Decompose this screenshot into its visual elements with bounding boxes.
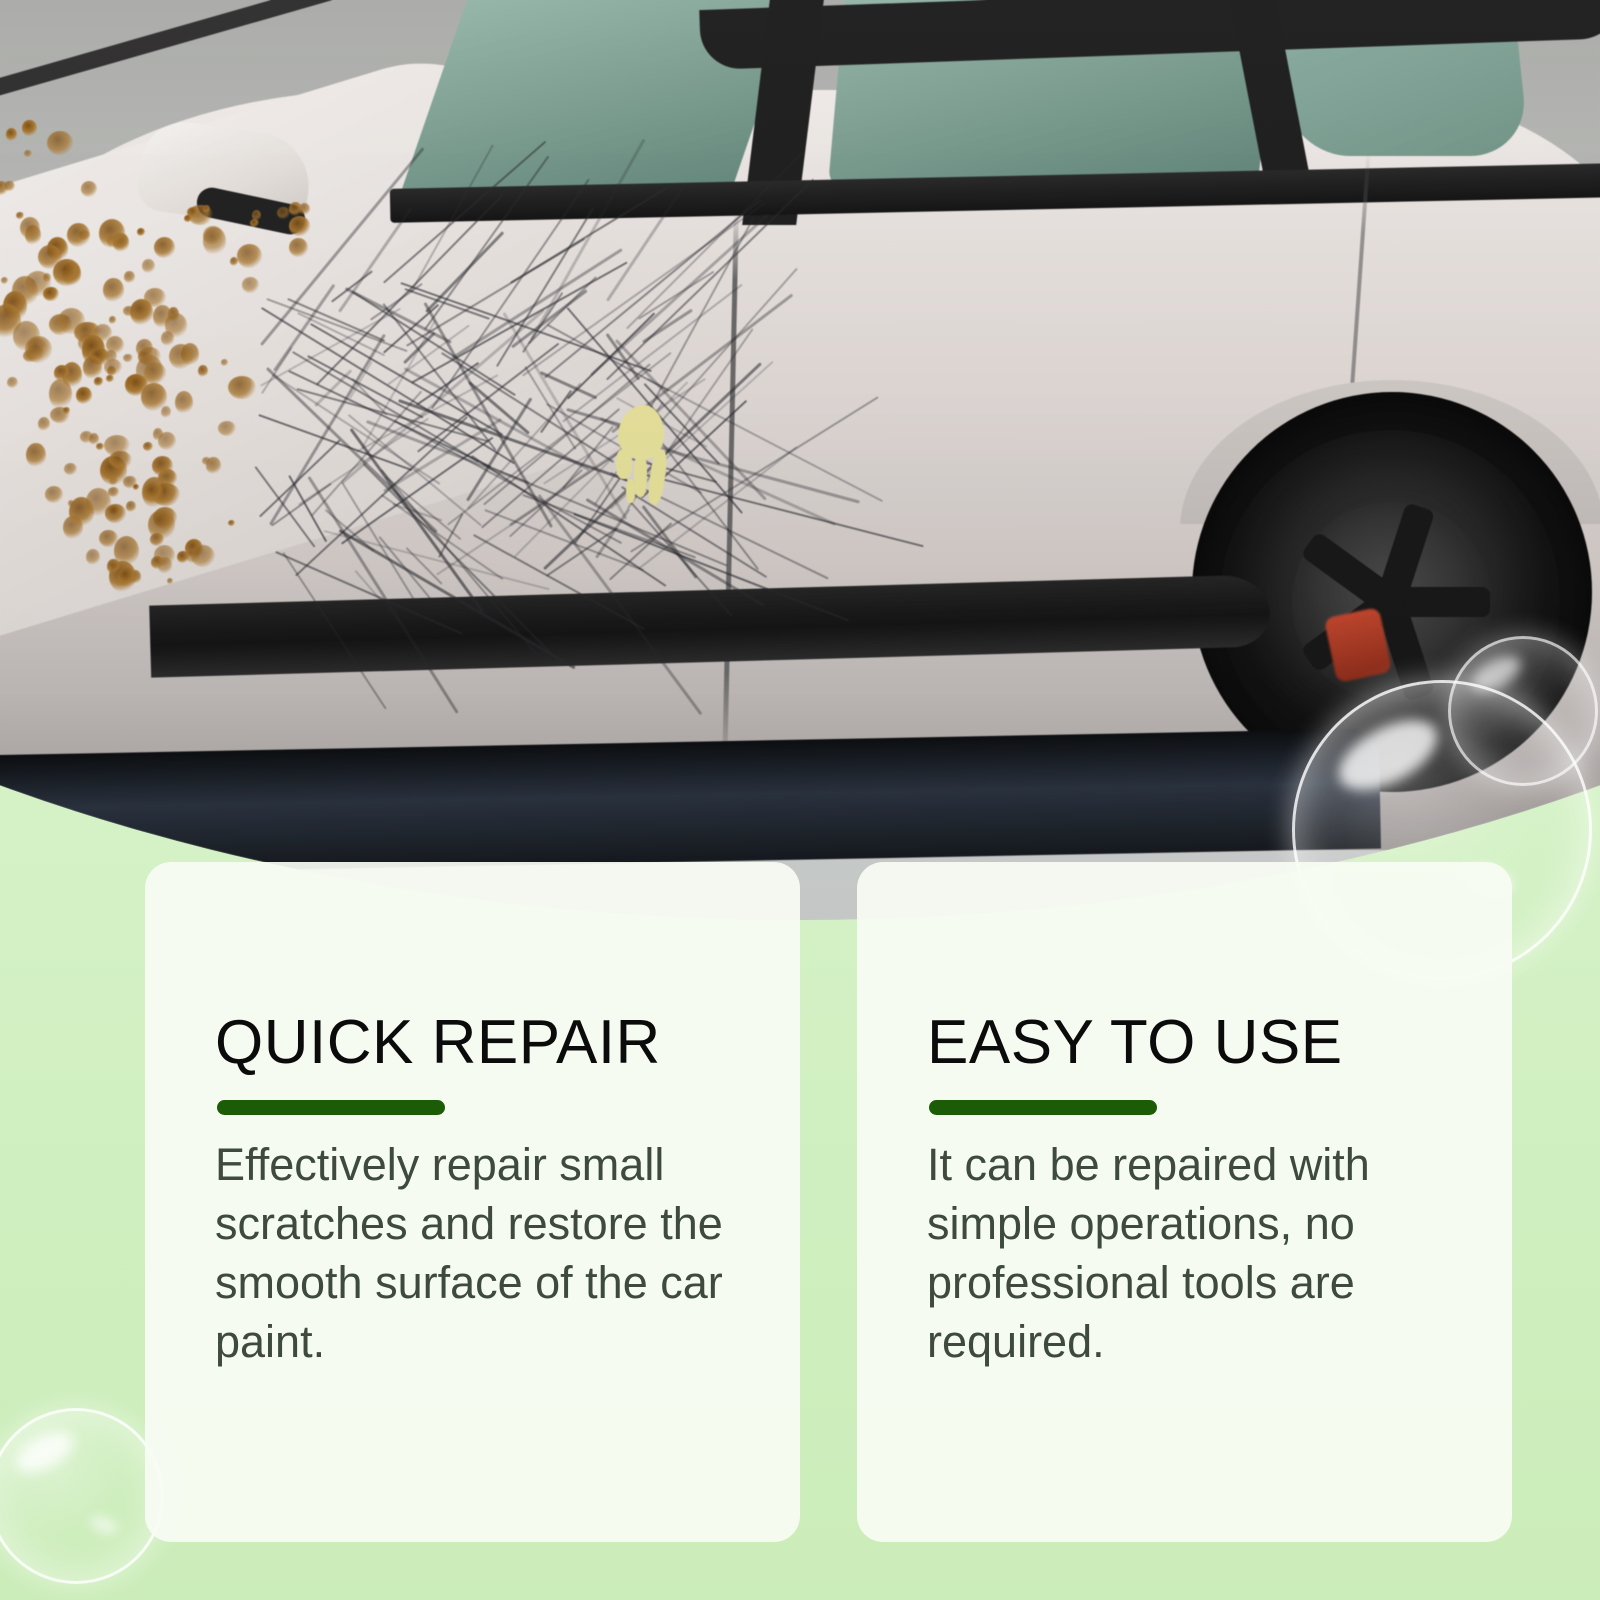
rust-spot [289,202,302,216]
rust-spot [81,181,98,197]
rust-spot [161,331,174,346]
rust-spot [123,354,133,362]
infographic-canvas: QUICK REPAIR Effectively repair small sc… [0,0,1600,1600]
hero-photo [0,0,1600,920]
rust-spot [123,476,137,488]
rust-spot [69,497,94,527]
rust-spot [20,217,40,239]
rust-spot [47,131,73,155]
rust-spot [175,391,193,414]
rust-spot [6,128,17,141]
rust-spot [191,545,215,568]
rust-spot [124,271,134,282]
rust-spot [103,278,124,302]
rust-spot [76,387,92,405]
feature-card-text: It can be repaired with simple operation… [927,1135,1456,1371]
paint-splatter [612,405,682,515]
rust-spot [143,483,165,502]
paint-drip-2 [634,453,647,497]
feature-card-title: QUICK REPAIR [215,1012,744,1074]
rust-spot [237,244,263,268]
rust-spot [64,463,77,475]
rust-spot [126,501,135,512]
rust-spot [289,216,310,235]
feature-card-easy-to-use: EASY TO USE It can be repaired with simp… [857,862,1512,1542]
rust-spot [177,551,188,563]
rust-spot [49,379,73,409]
rust-spot [107,559,119,575]
rust-spot [108,487,119,497]
paint-drip-4 [626,479,635,503]
rust-spot [7,377,18,388]
rust-spot [43,273,51,283]
rust-spot [202,457,211,465]
rust-spot [1,277,8,284]
rust-spot [150,533,164,546]
rust-spot [63,407,71,414]
rust-spot [218,421,236,436]
rust-spot [109,451,132,469]
rust-spot [109,316,116,324]
feature-card-title: EASY TO USE [927,1012,1456,1074]
scratch-damage-area [250,280,670,600]
rust-spot [53,259,81,286]
rust-spot [142,259,155,273]
rust-spot [129,375,148,395]
feature-card-quick-repair: QUICK REPAIR Effectively repair small sc… [145,862,800,1542]
accent-divider [929,1100,1157,1115]
rust-spot [89,433,99,445]
rust-spot [169,344,193,369]
paint-drip-1 [616,449,632,479]
rust-spot [161,406,171,418]
feature-card-text: Effectively repair small scratches and r… [215,1135,744,1371]
rust-spot [24,150,31,157]
rust-spot [277,207,289,219]
rust-spot [221,359,229,366]
rust-spot [25,336,52,363]
rust-spot [154,237,175,258]
rust-spot [26,443,45,467]
rust-spot [4,181,14,192]
rust-spot [153,428,163,441]
rust-spot [203,227,227,255]
rust-spot [289,238,308,257]
rust-spot [143,442,153,451]
rust-spot [228,520,235,526]
rust-spot [99,219,125,248]
rust-spot [16,212,23,220]
rust-spot [83,356,102,378]
rust-spot [94,377,104,385]
hero-photo-image [0,0,1600,920]
accent-divider [217,1100,445,1115]
rust-spot [198,365,208,377]
